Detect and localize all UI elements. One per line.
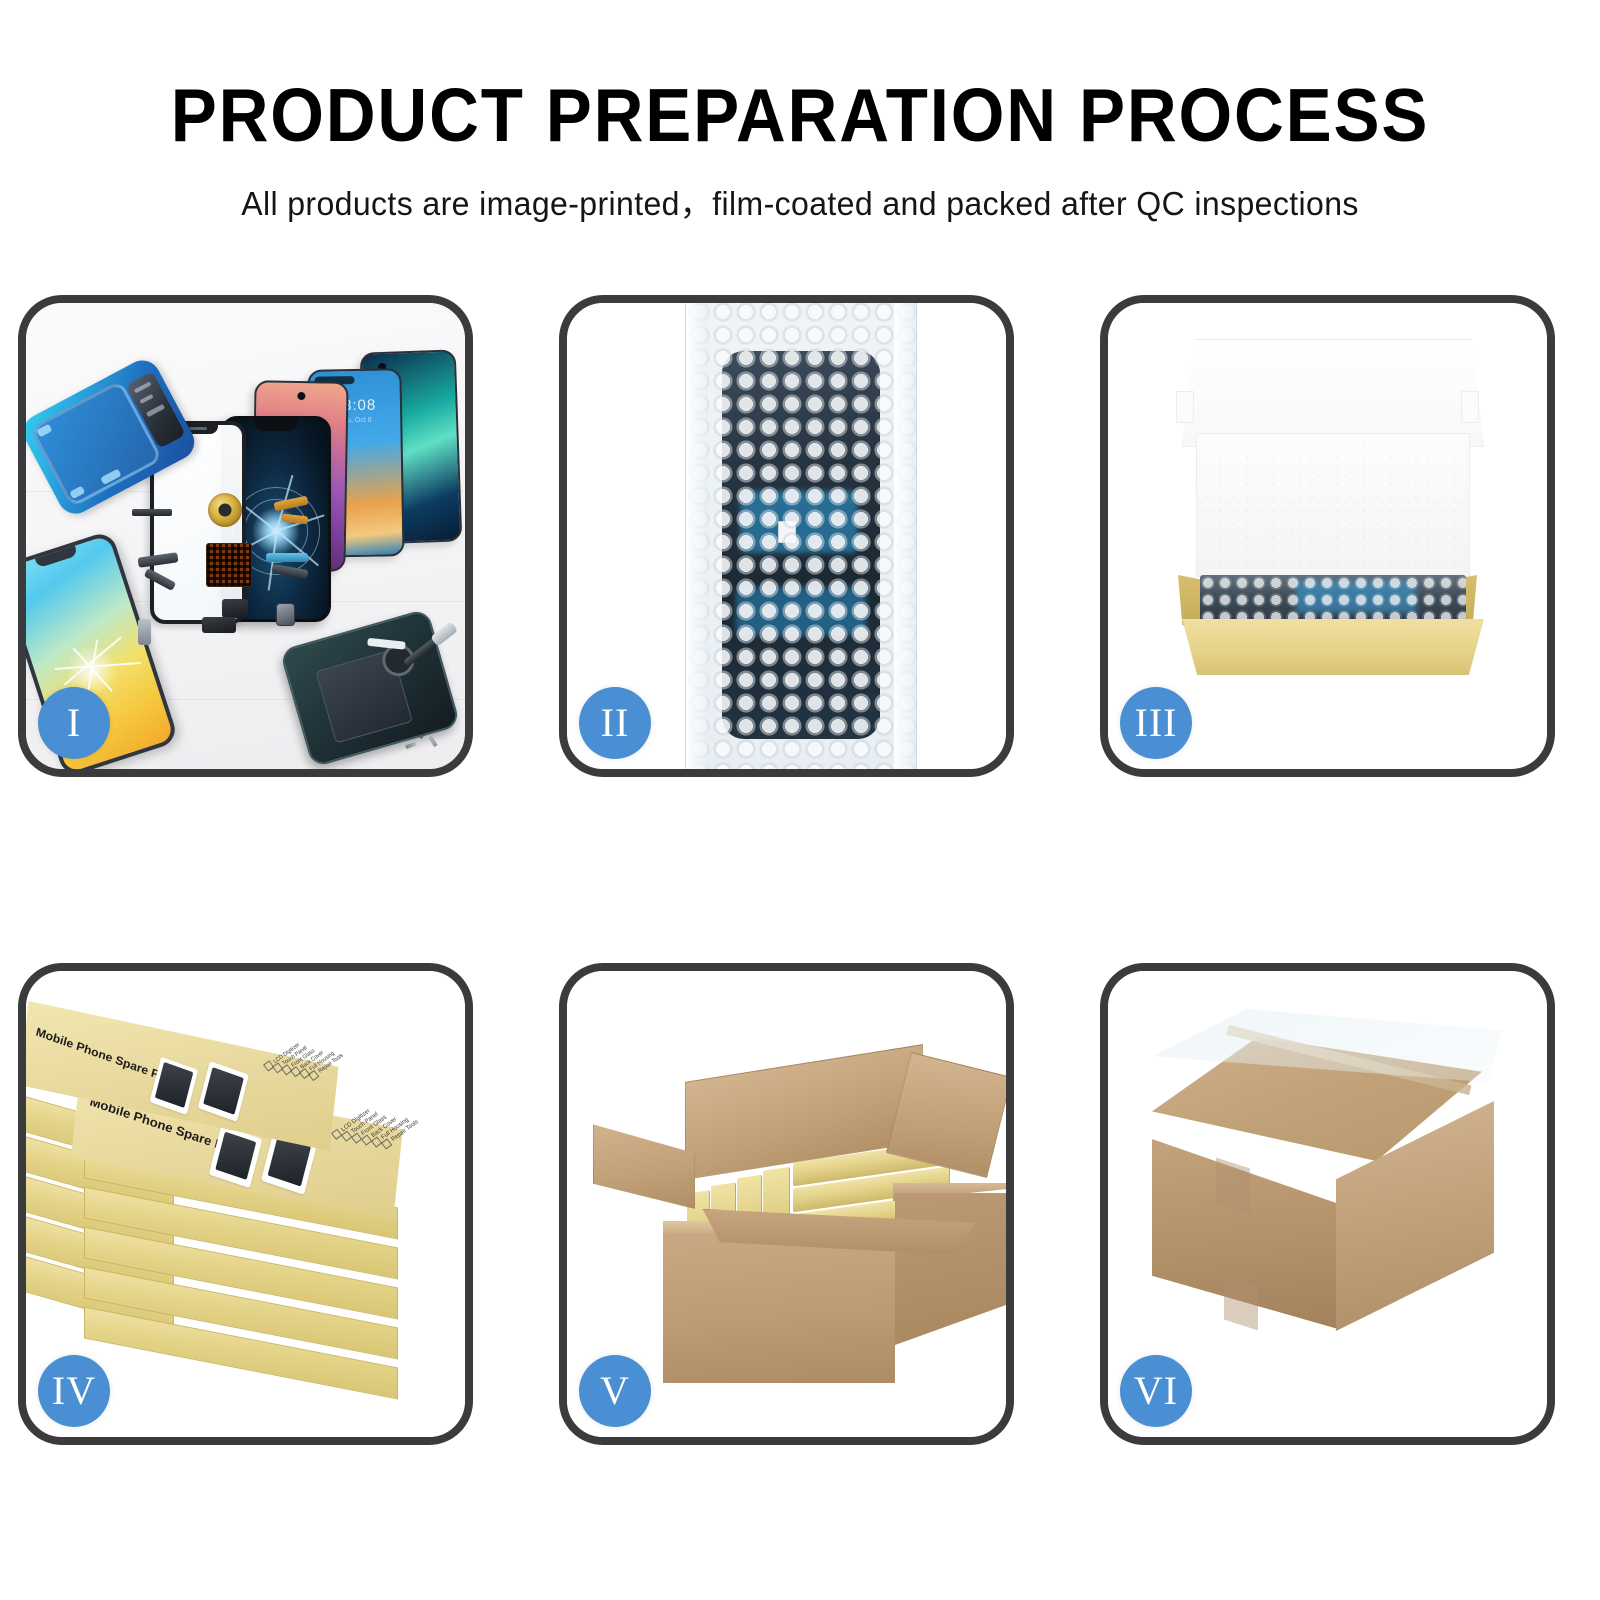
step-panel-6: VI: [1100, 963, 1555, 1445]
part-antenna-strip: [132, 509, 172, 516]
page-subtitle: All products are image-printed，film-coat…: [24, 153, 1576, 225]
bubble-texture: [686, 303, 916, 769]
part-taptic-engine: [202, 617, 236, 633]
step-panel-3: III: [1100, 295, 1555, 777]
step-badge-4: IV: [38, 1355, 110, 1427]
page-title: PRODUCT PREPARATION PROCESS: [64, 0, 1536, 153]
chip-detail: [146, 404, 165, 417]
notch-icon: [254, 419, 298, 431]
part-sim-tray: [138, 619, 151, 645]
step-badge-3: III: [1120, 687, 1192, 759]
lid-tab: [1461, 391, 1479, 423]
page-header: PRODUCT PREPARATION PROCESS All products…: [0, 0, 1600, 260]
ribbon-cable: [367, 637, 406, 649]
step-badge-1: I: [38, 687, 110, 759]
part-wireless-charging-coil: [208, 493, 242, 527]
step-badge-6: VI: [1120, 1355, 1192, 1427]
camera-hole-icon: [297, 392, 305, 400]
part-camera-module: [276, 603, 295, 626]
part-ic-chip: [206, 543, 252, 587]
mailer-box-lid: [1182, 339, 1484, 447]
process-steps-grid: 08:08 Thu, Oct 8: [18, 295, 1582, 1465]
wrap-edge: [894, 303, 916, 769]
chip-detail: [134, 381, 152, 393]
part-volume-flex: [266, 553, 308, 562]
step-panel-2: II: [559, 295, 1014, 777]
step-badge-5: V: [579, 1355, 651, 1427]
step-panel-1: 08:08 Thu, Oct 8: [18, 295, 473, 777]
wrap-edge: [686, 303, 708, 769]
bubble-wrap-sheet: [685, 303, 917, 769]
retail-box-thumbnail: [149, 1057, 198, 1115]
step-badge-2: II: [579, 687, 651, 759]
foam-liner: [1200, 437, 1464, 571]
earpiece-icon: [189, 427, 207, 430]
chip-detail: [139, 394, 153, 404]
lid-tab: [1176, 391, 1194, 423]
step-panel-4: Mobile Phone Spare Parts LCD Digitizer T…: [18, 963, 473, 1445]
carton-front-panel: [663, 1233, 895, 1383]
mailer-box-front-panel: [1182, 619, 1484, 675]
retail-box-thumbnail: [198, 1061, 249, 1122]
part-speaker: [222, 599, 248, 618]
step-panel-5: V: [559, 963, 1014, 1445]
